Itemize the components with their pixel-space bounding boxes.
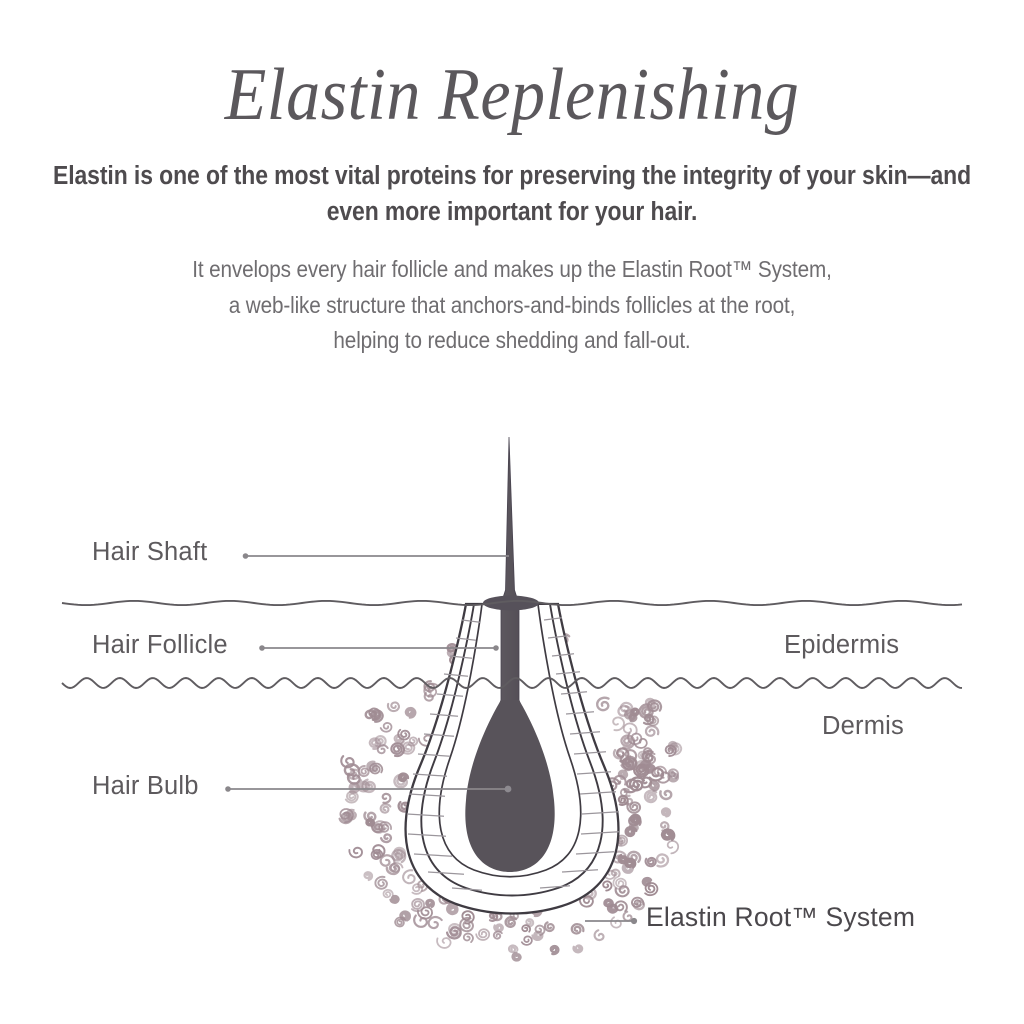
elastin-tendril	[551, 946, 559, 954]
elastin-tendril	[668, 772, 677, 782]
elastin-tendril	[388, 702, 399, 711]
elastin-tendril	[646, 726, 658, 736]
page-root: Elastin Replenishing Elastin is one of t…	[0, 0, 1024, 1024]
elastin-tendril	[649, 781, 659, 791]
diagram-label-hair-bulb: Hair Bulb	[92, 772, 199, 801]
diagram-label-elastin-root: Elastin Root™ System	[646, 902, 915, 933]
elastin-tendril	[426, 900, 434, 908]
elastin-tendril	[522, 936, 532, 945]
elastin-tendril	[619, 771, 627, 779]
elastin-tendril	[597, 698, 608, 711]
elastin-tendril	[391, 896, 399, 903]
hair-follicle-diagram	[0, 0, 1024, 1024]
leader-dot-hair-shaft	[243, 553, 249, 559]
elastin-tendril	[624, 723, 637, 733]
elastin-tendril	[645, 790, 656, 802]
elastin-tendril	[630, 823, 638, 831]
elastin-tendril	[494, 932, 502, 939]
elastin-tendril	[381, 834, 391, 842]
elastin-tendril	[522, 925, 530, 932]
elastin-tendril	[660, 791, 671, 799]
elastin-tendril	[395, 917, 405, 926]
elastin-tendril	[646, 858, 656, 866]
elastin-tendril	[412, 884, 422, 894]
elastin-tendril	[611, 917, 621, 927]
elastin-tendril	[406, 708, 415, 718]
diagram-label-hair-follicle: Hair Follicle	[92, 631, 228, 660]
elastin-tendril	[412, 899, 424, 911]
diagram-label-hair-shaft: Hair Shaft	[92, 538, 207, 567]
elastin-tendril	[370, 763, 382, 773]
elastin-tendril	[613, 877, 626, 889]
leader-dot-hair-follicle-end	[493, 645, 499, 651]
elastin-tendril	[613, 717, 624, 730]
elastin-tendril	[464, 934, 473, 943]
elastin-tendril	[668, 841, 679, 853]
leader-dot-hair-bulb-end	[505, 786, 512, 793]
elastin-tendril	[624, 912, 632, 921]
elastin-tendril	[629, 714, 636, 721]
elastin-tendril	[383, 794, 391, 803]
elastin-tendril	[645, 883, 657, 895]
elastin-tendril	[381, 804, 391, 812]
elastin-tendril	[349, 848, 362, 858]
elastin-tendril	[657, 854, 668, 866]
elastin-tendril	[628, 852, 640, 862]
elastin-tendril	[662, 809, 670, 817]
elastin-tendril	[494, 924, 503, 931]
elastin-tendril	[391, 743, 404, 756]
elastin-tendril	[403, 870, 415, 883]
elastin-tendril	[662, 830, 674, 840]
elastin-tendril	[509, 945, 517, 952]
elastin-tendril	[512, 952, 520, 960]
elastin-tendril	[621, 736, 634, 749]
elastin-tendril	[574, 946, 582, 953]
elastin-tendril	[572, 924, 584, 933]
elastin-tendril	[646, 699, 654, 706]
elastin-tendril	[603, 881, 611, 890]
elastin-tendril	[366, 819, 374, 826]
elastin-tendril	[381, 723, 392, 732]
elastin-tendril	[595, 930, 604, 940]
diagram-label-epidermis: Epidermis	[784, 631, 899, 660]
elastin-tendril	[346, 810, 356, 820]
elastin-tendril	[437, 938, 451, 948]
elastin-tendril	[375, 877, 387, 889]
elastin-tendril	[365, 872, 372, 880]
elastin-tendril	[429, 917, 442, 928]
elastin-tendril	[545, 922, 554, 931]
elastin-tendril	[476, 929, 489, 940]
elastin-tendril	[614, 750, 624, 758]
elastin-tendril	[604, 899, 613, 907]
leader-dot-elastin-root	[631, 918, 637, 924]
leader-dot-hair-bulb	[225, 786, 231, 792]
elastin-tendril	[383, 890, 392, 897]
leader-dot-hair-follicle	[259, 645, 265, 651]
diagram-label-dermis: Dermis	[822, 712, 904, 741]
elastin-tendril	[370, 738, 381, 749]
